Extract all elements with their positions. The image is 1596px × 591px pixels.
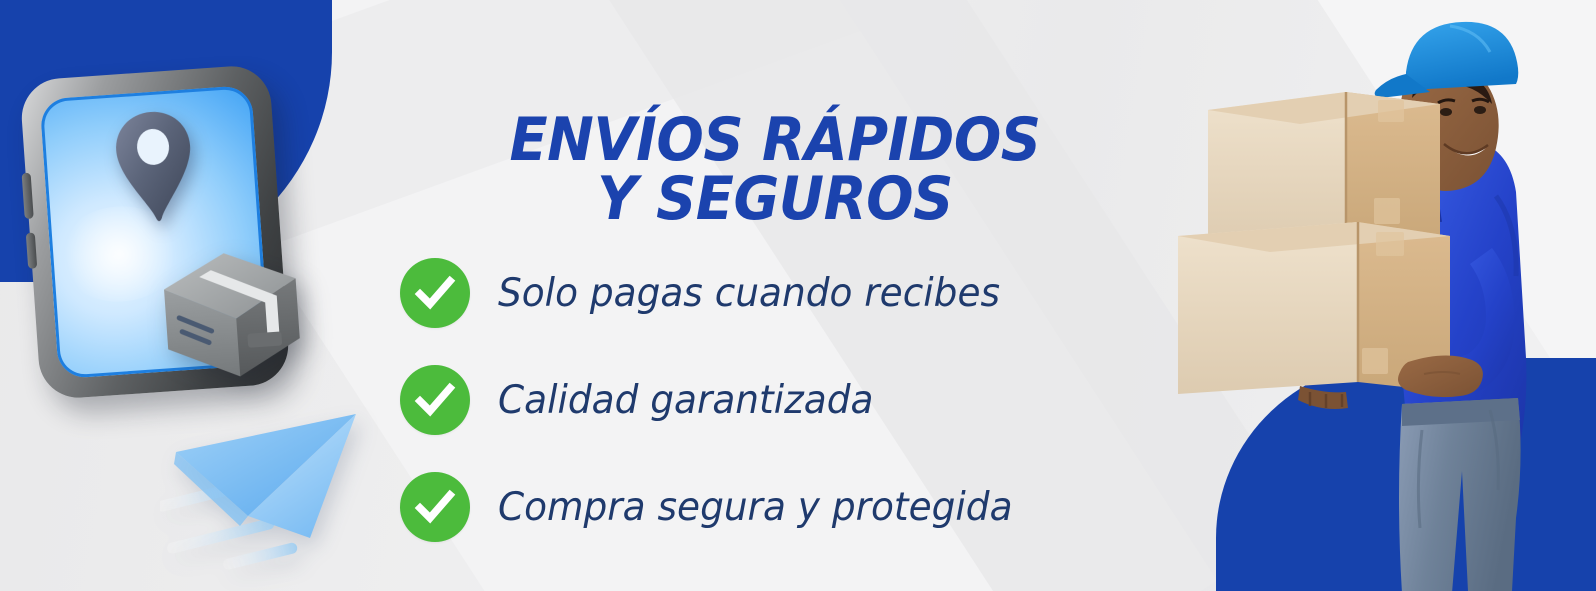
paper-plane-icon	[160, 398, 390, 583]
check-circle-icon	[400, 472, 470, 542]
feature-list: Solo pagas cuando recibes Calidad garant…	[400, 258, 1034, 542]
smartphone-illustration	[19, 64, 291, 401]
check-circle-icon	[400, 258, 470, 328]
list-item: Calidad garantizada	[400, 365, 1034, 435]
list-item: Compra segura y protegida	[400, 472, 1034, 542]
check-circle-icon	[400, 365, 470, 435]
feature-label: Calidad garantizada	[498, 381, 873, 420]
promo-banner: ENVÍOS RÁPIDOS Y SEGUROS Solo pagas cuan…	[0, 0, 1596, 591]
headline-line-2: Y SEGUROS	[477, 170, 1072, 229]
delivery-courier-photo	[1150, 0, 1596, 591]
map-pin-icon	[108, 107, 202, 225]
feature-label: Solo pagas cuando recibes	[498, 274, 1000, 313]
list-item: Solo pagas cuando recibes	[400, 258, 1034, 328]
parcel-box-icon	[158, 244, 307, 385]
feature-label: Compra segura y protegida	[498, 488, 1013, 527]
page-title: ENVÍOS RÁPIDOS Y SEGUROS	[477, 52, 1072, 287]
